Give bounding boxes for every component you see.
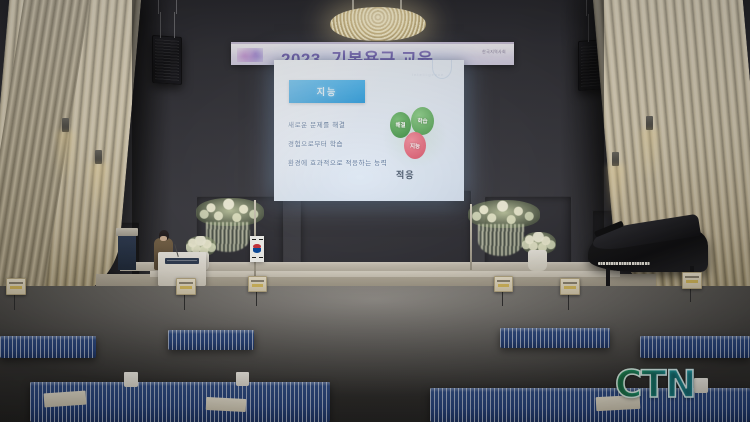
slide-bullet-1: 새로운 문제를 해결 — [288, 119, 345, 129]
trigram-bar — [252, 239, 256, 240]
banner-decoration — [237, 48, 263, 62]
banner-sponsor-logo: 한국지역사회 — [482, 49, 506, 55]
video-frame: 2023. 기본욕구 교육 한국지역사회 Intelligence 지능 새로운… — [0, 0, 750, 422]
speaker-wire — [174, 12, 175, 38]
speaker-wire — [586, 0, 587, 16]
taeguk-blue — [253, 248, 261, 253]
projection-screen: Intelligence 지능 새로운 문제를 해결 경험으로부터 학습 환경에… — [274, 60, 464, 201]
flag-pole-right — [470, 204, 472, 270]
slide-title-box: 지능 — [289, 80, 365, 103]
speaker-wire — [176, 0, 177, 14]
slide-diagram: 해결 학습 지능 적응 — [380, 104, 454, 194]
diagram-caption: 적응 — [396, 168, 415, 181]
wall-sconce — [95, 150, 102, 164]
table-sign-line — [685, 276, 699, 278]
wall-sconce — [62, 118, 69, 132]
slide-title-text: 지능 — [317, 85, 338, 98]
diagram-node-2: 학습 — [411, 107, 434, 135]
slide-bullet-2: 경험으로부터 학습 — [288, 138, 343, 148]
ctn-watermark: CTN — [615, 366, 695, 403]
trigram-bar — [259, 257, 263, 258]
floral-trailing-right — [478, 224, 524, 256]
korean-flag — [250, 236, 264, 262]
wall-sconce — [612, 152, 619, 166]
diagram-node-3: 지능 — [404, 132, 426, 159]
trigram-bar — [259, 239, 263, 240]
slide-watermark: Intelligence — [412, 72, 444, 77]
trigram-bar — [252, 257, 256, 258]
wall-sconce — [646, 116, 653, 130]
podium-nameplate — [165, 258, 199, 264]
floral-vase-right — [528, 250, 547, 271]
chandelier — [330, 7, 426, 41]
speaker-wire — [588, 14, 589, 42]
presenter-head — [159, 230, 169, 241]
slide-bullet-3: 환경에 효과적으로 적응하는 능력 — [288, 157, 387, 167]
piano-keys — [598, 262, 650, 265]
